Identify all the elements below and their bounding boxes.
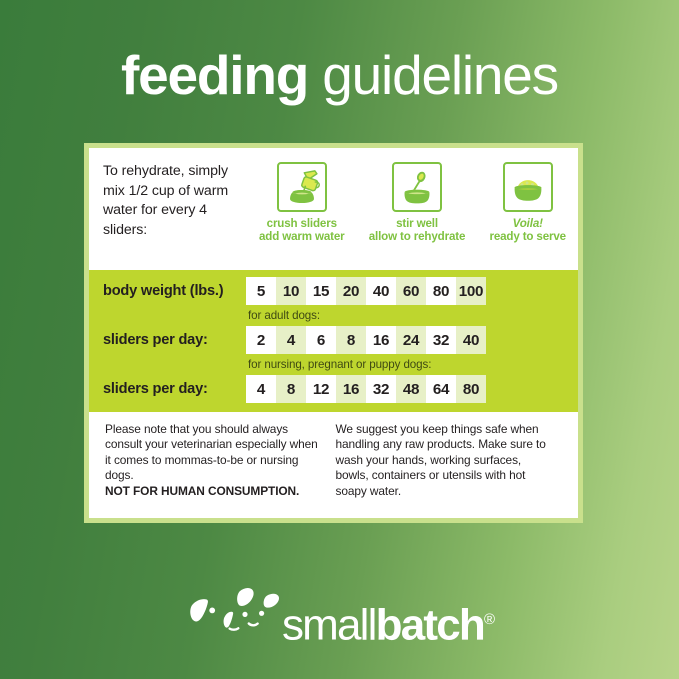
safety-note: We suggest you keep things safe when han… [336,422,557,499]
brand-logo: smallbatch® [0,565,679,660]
table-cell: 80 [456,375,486,403]
step-caption-line1: stir well [396,217,438,230]
table-caption-adult: for adult dogs: [89,306,578,325]
caption-adult-dogs: for adult dogs: [246,309,320,322]
step-caption: crush sliders add warm water [259,217,345,244]
watering-can-pouring-into-bowl-icon [277,162,327,212]
steps-row: crush sliders add warm water [253,162,568,244]
table-cell: 16 [336,375,366,403]
step-caption-line2: add warm water [259,230,345,243]
vet-note: Please note that you should always consu… [105,422,326,484]
full-food-bowl-icon [503,162,553,212]
table-cell: 5 [246,277,276,305]
table-cell: 6 [306,326,336,354]
table-cell: 32 [426,326,456,354]
table-cell: 4 [276,326,306,354]
table-row-nursing-sliders: sliders per day: 4 8 12 16 32 48 64 80 [89,374,578,404]
table-cell: 80 [426,277,456,305]
step-caption: stir well allow to rehydrate [369,217,466,244]
note-column-right: We suggest you keep things safe when han… [336,422,567,510]
registered-trademark-symbol: ® [484,611,495,628]
footer-notes: Please note that you should always consu… [89,412,578,518]
row-label-nursing-sliders: sliders per day: [103,381,246,397]
table-cell: 60 [396,277,426,305]
table-caption-nursing: for nursing, pregnant or puppy dogs: [89,355,578,374]
guidelines-card: To rehydrate, simply mix 1/2 cup of warm… [84,143,583,523]
step-ready-to-serve: Voila! ready to serve [489,162,566,244]
caption-nursing-dogs: for nursing, pregnant or puppy dogs: [246,358,431,371]
human-consumption-warning: NOT FOR HUMAN CONSUMPTION. [105,484,326,499]
table-cell: 8 [336,326,366,354]
table-cell: 24 [396,326,426,354]
table-cell: 64 [426,375,456,403]
brand-wordmark: smallbatch® [282,598,495,648]
dosage-table: body weight (lbs.) 5 10 15 20 40 60 80 1… [89,270,578,412]
table-cell: 4 [246,375,276,403]
body-weight-cells: 5 10 15 20 40 60 80 100 [246,277,486,305]
guidelines-card-inner: To rehydrate, simply mix 1/2 cup of warm… [89,148,578,518]
dog-and-cat-faces-icon [184,571,284,649]
table-cell: 2 [246,326,276,354]
table-cell: 16 [366,326,396,354]
spoon-in-bowl-icon [392,162,442,212]
page-title-bold: feeding [121,44,308,106]
table-cell: 12 [306,375,336,403]
step-stir-well: stir well allow to rehydrate [369,162,466,244]
table-cell: 20 [336,277,366,305]
table-cell: 40 [366,277,396,305]
logo-text-small: small [282,600,376,649]
step-caption-line1: Voila! [513,217,543,230]
table-row-adult-sliders: sliders per day: 2 4 6 8 16 24 32 40 [89,325,578,355]
adult-sliders-cells: 2 4 6 8 16 24 32 40 [246,326,486,354]
page-title-light: guidelines [308,44,558,106]
table-cell: 40 [456,326,486,354]
table-cell: 32 [366,375,396,403]
table-cell: 10 [276,277,306,305]
table-cell: 15 [306,277,336,305]
table-cell: 100 [456,277,486,305]
table-cell: 8 [276,375,306,403]
logo-text-batch: batch [376,600,484,649]
step-caption: Voila! ready to serve [489,217,566,244]
rehydrate-instructions: To rehydrate, simply mix 1/2 cup of warm… [103,162,253,240]
step-caption-line1: crush sliders [267,217,337,230]
table-cell: 48 [396,375,426,403]
note-column-left: Please note that you should always consu… [105,422,336,510]
feeding-guidelines-page: feeding guidelines To rehydrate, simply … [0,0,679,679]
table-row-body-weight: body weight (lbs.) 5 10 15 20 40 60 80 1… [89,276,578,306]
instructions-section: To rehydrate, simply mix 1/2 cup of warm… [89,148,578,270]
nursing-sliders-cells: 4 8 12 16 32 48 64 80 [246,375,486,403]
step-caption-line2: allow to rehydrate [369,230,466,243]
step-caption-line2: ready to serve [489,230,566,243]
step-crush-sliders: crush sliders add warm water [259,162,345,244]
row-label-adult-sliders: sliders per day: [103,332,246,348]
row-label-body-weight: body weight (lbs.) [103,283,246,299]
page-title: feeding guidelines [0,44,679,106]
